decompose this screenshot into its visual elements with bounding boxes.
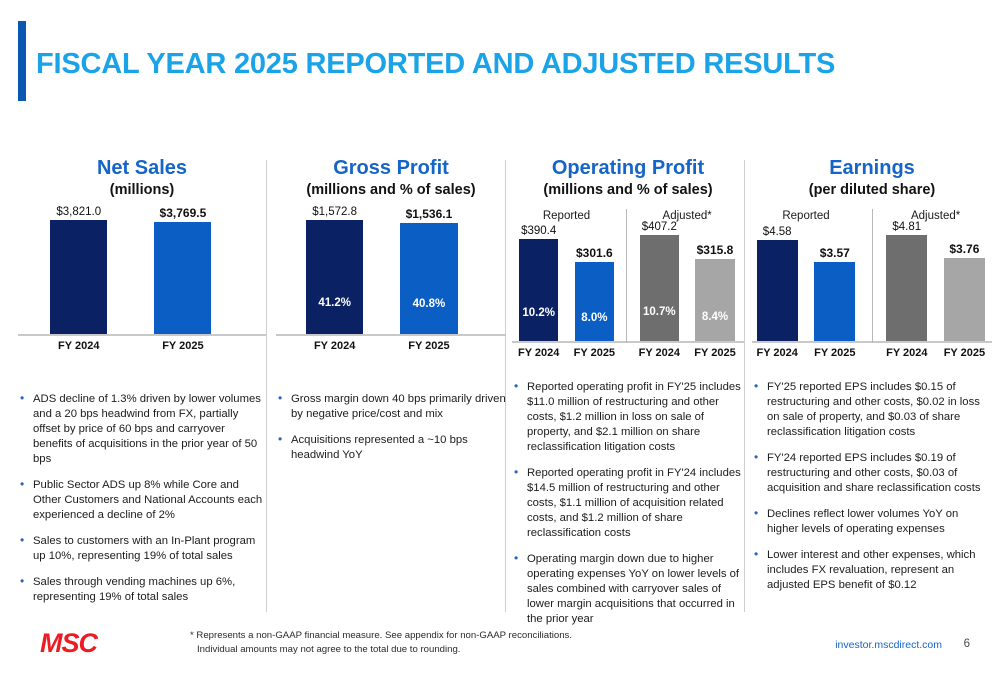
bar-rect	[154, 222, 211, 334]
panel-divider-3	[744, 160, 745, 612]
msc-logo: MSC	[40, 628, 97, 659]
bar-value-label: $1,536.1	[406, 207, 453, 221]
x-axis-label: FY 2024	[639, 347, 680, 359]
x-axis-label: FY 2025	[574, 347, 615, 359]
bullet-item: Gross margin down 40 bps primarily drive…	[276, 392, 506, 422]
x-axis-labels: FY 2024FY 2025	[18, 340, 266, 358]
bar-rect	[695, 259, 734, 341]
axis-baseline	[276, 334, 506, 336]
footnote-line-1: * Represents a non-GAAP financial measur…	[190, 629, 572, 643]
bar-value-label: $3,769.5	[160, 206, 207, 220]
bar-rect	[886, 235, 927, 341]
x-axis-labels: FY 2024FY 2025FY 2024FY 2025	[512, 347, 744, 365]
bar: $3,769.5	[154, 222, 211, 334]
bullet-item: FY'24 reported EPS includes $0.19 of res…	[752, 451, 992, 496]
bar-value-label: $3.57	[820, 246, 850, 260]
x-axis-label: FY 2024	[886, 347, 927, 359]
x-axis-label: FY 2025	[694, 347, 735, 359]
page-title: FISCAL YEAR 2025 REPORTED AND ADJUSTED R…	[36, 48, 835, 81]
group-labels: ReportedAdjusted*	[512, 210, 744, 225]
panel-title: Operating Profit	[512, 158, 744, 179]
chart-operating-profit: ReportedAdjusted* $390.410.2%$301.68.0%$…	[512, 210, 744, 368]
bar: $3,821.0	[50, 220, 107, 334]
bullet-item: FY'25 reported EPS includes $0.15 of res…	[752, 380, 992, 440]
bar-rect	[575, 262, 614, 341]
x-axis-label: FY 2024	[518, 347, 559, 359]
bar-percent-label: 40.8%	[400, 298, 458, 310]
bar-value-label: $3,821.0	[56, 206, 101, 218]
panel-subtitle: (millions and % of sales)	[276, 182, 506, 198]
bullet-list: Gross margin down 40 bps primarily drive…	[276, 392, 506, 463]
bar-percent-label: 10.2%	[519, 307, 558, 319]
group-divider	[626, 209, 627, 343]
bar: $1,572.841.2%	[306, 220, 364, 334]
plot-area: $390.410.2%$301.68.0%$407.210.7%$315.88.…	[512, 225, 744, 343]
bar: $3.57	[814, 262, 855, 341]
x-axis-label: FY 2025	[944, 347, 985, 359]
plot-area: $1,572.841.2%$1,536.140.8%	[276, 210, 506, 336]
bar-value-label: $4.58	[763, 226, 792, 238]
group-label: Reported	[782, 210, 829, 222]
bullet-list: FY'25 reported EPS includes $0.15 of res…	[752, 380, 992, 593]
bullet-item: Operating margin down due to higher oper…	[512, 552, 744, 627]
bullet-item: ADS decline of 1.3% driven by lower volu…	[18, 392, 266, 467]
x-axis-label: FY 2025	[162, 340, 203, 352]
axis-baseline	[512, 341, 744, 343]
bar: $4.81	[886, 235, 927, 341]
bar-value-label: $3.76	[949, 242, 979, 256]
panel-title: Net Sales	[18, 158, 266, 179]
chart-earnings: ReportedAdjusted* $4.58$3.57$4.81$3.76 F…	[752, 210, 992, 368]
bar-rect	[400, 223, 458, 334]
panel-title: Earnings	[752, 158, 992, 179]
panel-net-sales: Net Sales (millions) $3,821.0$3,769.5 FY…	[18, 158, 266, 618]
bullet-item: Acquisitions represented a ~10 bps headw…	[276, 433, 506, 463]
bar-rect	[757, 240, 798, 341]
bullet-item: Reported operating profit in FY'25 inclu…	[512, 380, 744, 455]
x-axis-label: FY 2024	[756, 347, 797, 359]
bar-value-label: $4.81	[892, 221, 921, 233]
bar: $315.88.4%	[695, 259, 734, 341]
bar-value-label: $407.2	[642, 221, 677, 233]
axis-baseline	[18, 334, 266, 336]
x-axis-labels: FY 2024FY 2025FY 2024FY 2025	[752, 347, 992, 365]
x-axis-label: FY 2025	[814, 347, 855, 359]
bar-rect	[944, 258, 985, 341]
bar: $301.68.0%	[575, 262, 614, 341]
bar-value-label: $315.8	[697, 243, 734, 257]
panel-divider-1	[266, 160, 267, 612]
x-axis-labels: FY 2024FY 2025	[276, 340, 506, 358]
bar-percent-label: 8.0%	[575, 312, 614, 324]
panel-title: Gross Profit	[276, 158, 506, 179]
group-label: Reported	[543, 210, 590, 222]
footnote-line-2: Individual amounts may not agree to the …	[190, 643, 572, 657]
panels-container: Net Sales (millions) $3,821.0$3,769.5 FY…	[0, 158, 1000, 618]
bar-percent-label: 41.2%	[306, 297, 364, 309]
bullet-item: Sales to customers with an In-Plant prog…	[18, 534, 266, 564]
panel-subtitle: (per diluted share)	[752, 182, 992, 198]
bullet-item: Lower interest and other expenses, which…	[752, 548, 992, 593]
bullet-list: ADS decline of 1.3% driven by lower volu…	[18, 392, 266, 605]
panel-operating-profit: Operating Profit (millions and % of sale…	[512, 158, 744, 618]
bar-rect	[640, 235, 679, 341]
bar: $390.410.2%	[519, 239, 558, 341]
bar-rect	[519, 239, 558, 341]
bar-value-label: $301.6	[576, 246, 613, 260]
slide: FISCAL YEAR 2025 REPORTED AND ADJUSTED R…	[0, 0, 1000, 685]
bullet-item: Public Sector ADS up 8% while Core and O…	[18, 478, 266, 523]
chart-gross-profit: $1,572.841.2%$1,536.140.8% FY 2024FY 202…	[276, 210, 506, 380]
panel-subtitle: (millions and % of sales)	[512, 182, 744, 198]
panel-subtitle: (millions)	[18, 182, 266, 198]
title-accent-bar	[18, 21, 26, 101]
bullet-item: Declines reflect lower volumes YoY on hi…	[752, 507, 992, 537]
bar-percent-label: 8.4%	[695, 311, 734, 323]
bar: $4.58	[757, 240, 798, 341]
bar-percent-label: 10.7%	[640, 306, 679, 318]
panel-gross-profit: Gross Profit (millions and % of sales) $…	[276, 158, 506, 618]
x-axis-label: FY 2024	[58, 340, 99, 352]
group-divider	[872, 209, 873, 343]
page-number: 6	[964, 638, 970, 650]
chart-net-sales: $3,821.0$3,769.5 FY 2024FY 2025	[18, 210, 266, 380]
panel-earnings: Earnings (per diluted share) ReportedAdj…	[752, 158, 992, 618]
investor-website-link[interactable]: investor.mscdirect.com	[835, 639, 942, 651]
bar: $407.210.7%	[640, 235, 679, 341]
plot-area: $3,821.0$3,769.5	[18, 210, 266, 336]
footnote: * Represents a non-GAAP financial measur…	[190, 629, 572, 658]
x-axis-label: FY 2025	[408, 340, 449, 352]
bar-value-label: $1,572.8	[312, 206, 357, 218]
bullet-item: Sales through vending machines up 6%, re…	[18, 575, 266, 605]
bar-rect	[814, 262, 855, 341]
bar: $3.76	[944, 258, 985, 341]
plot-area: $4.58$3.57$4.81$3.76	[752, 225, 992, 343]
x-axis-label: FY 2024	[314, 340, 355, 352]
bar: $1,536.140.8%	[400, 223, 458, 334]
bar-rect	[306, 220, 364, 334]
bullet-list: Reported operating profit in FY'25 inclu…	[512, 380, 744, 627]
bullet-item: Reported operating profit in FY'24 inclu…	[512, 466, 744, 541]
bar-value-label: $390.4	[521, 225, 556, 237]
bar-rect	[50, 220, 107, 334]
